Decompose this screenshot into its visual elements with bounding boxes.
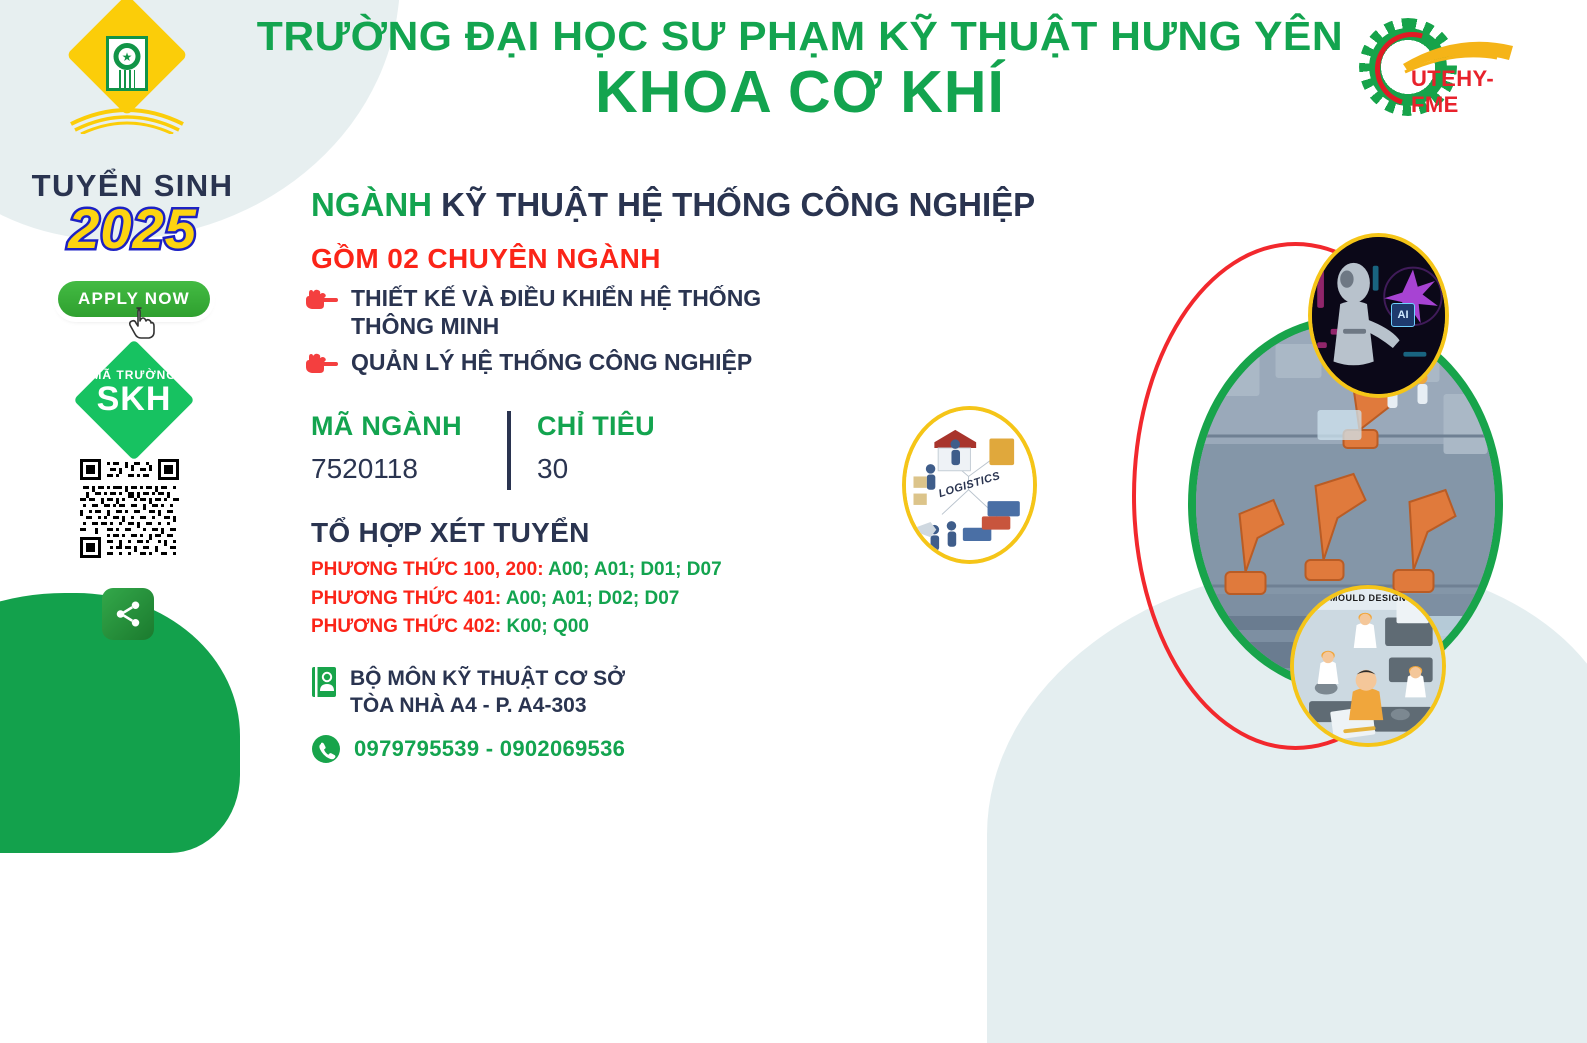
program-keyword: NGÀNH [311, 186, 432, 223]
contact-department: BỘ MÔN KỸ THUẬT CƠ SỞ [350, 666, 625, 693]
quota-value: 30 [537, 453, 733, 485]
major-code-label: MÃ NGÀNH [311, 411, 507, 442]
code-quota-block: MÃ NGÀNH 7520118 CHỈ TIÊU 30 [311, 411, 733, 490]
program-heading: NGÀNH KỸ THUẬT HỆ THỐNG CÔNG NGHIỆP [311, 186, 1035, 224]
combos-title: TỔ HỢP XÉT TUYỂN [311, 517, 590, 549]
university-logo: ★ [63, 6, 191, 134]
majors-list: THIẾT KẾ VÀ ĐIỀU KHIỂN HỆ THỐNG THÔNG MI… [305, 284, 825, 386]
share-glyph-icon [113, 599, 143, 629]
major-code-value: 7520118 [311, 453, 507, 485]
faculty-title: KHOA CƠ KHÍ [250, 62, 1350, 124]
mould-illustration [1294, 589, 1442, 743]
contact-address-row: BỘ MÔN KỸ THUẬT CƠ SỞ TÒA NHÀ A4 - P. A4… [311, 666, 625, 720]
methods-list: PHƯƠNG THỨC 100, 200: A00; A01; D01; D07… [311, 556, 722, 642]
banner-canvas: ★ TRƯỜNG ĐẠI HỌC SƯ PHẠM KỸ THUẬT HƯNG Y… [0, 0, 1587, 793]
quota-column: CHỈ TIÊU 30 [537, 411, 733, 485]
divider [507, 411, 511, 490]
page-title: TRƯỜNG ĐẠI HỌC SƯ PHẠM KỸ THUẬT HƯNG YÊN [228, 14, 1372, 58]
method-label: PHƯƠNG THỨC 100, 200: [311, 559, 544, 580]
contact-phone-row: 0979795539 - 0902069536 [311, 734, 625, 764]
program-name: KỸ THUẬT HỆ THỐNG CÔNG NGHIỆP [441, 186, 1035, 223]
contact-phones: 0979795539 - 0902069536 [354, 736, 625, 762]
ai-illustration [1312, 237, 1445, 394]
pointing-hand-icon [305, 288, 339, 314]
contact-card-icon [311, 666, 337, 698]
logistics-image: LOGISTICS [902, 406, 1037, 564]
method-row: PHƯƠNG THỨC 100, 200: A00; A01; D01; D07 [311, 556, 722, 585]
method-codes: K00; Q00 [501, 616, 589, 637]
method-codes: A00; A01; D02; D07 [501, 588, 679, 609]
ai-chip-label: AI [1391, 303, 1415, 327]
list-item: THIẾT KẾ VÀ ĐIỀU KHIỂN HỆ THỐNG THÔNG MI… [305, 284, 825, 340]
method-row: PHƯƠNG THỨC 402: K00; Q00 [311, 613, 722, 642]
qr-code[interactable] [80, 459, 179, 558]
method-label: PHƯƠNG THỨC 401: [311, 588, 501, 609]
quota-label: CHỈ TIÊU [537, 411, 733, 442]
school-code-value: SKH [74, 382, 194, 418]
phone-icon [311, 734, 341, 764]
utehy-fme-logo: UTEHY-FME [1355, 14, 1525, 122]
pointing-hand-icon [305, 352, 339, 378]
logo-star-icon: ★ [122, 51, 133, 63]
fme-logo-text: UTEHY-FME [1411, 66, 1525, 118]
mould-design-image: MOULD DESIGN [1290, 585, 1446, 747]
cursor-hand-icon [126, 303, 156, 339]
method-codes: A00; A01; D01; D07 [544, 559, 722, 580]
contact-location: TÒA NHÀ A4 - P. A4-303 [350, 693, 625, 720]
list-item: QUẢN LÝ HỆ THỐNG CÔNG NGHIỆP [305, 348, 825, 378]
share-icon[interactable] [102, 588, 154, 640]
list-item-label: QUẢN LÝ HỆ THỐNG CÔNG NGHIỆP [351, 348, 752, 376]
contact-text-group: BỘ MÔN KỸ THUẬT CƠ SỞ TÒA NHÀ A4 - P. A4… [350, 666, 625, 720]
mould-caption: MOULD DESIGN [1294, 593, 1442, 603]
majors-heading: GỒM 02 CHUYÊN NGÀNH [311, 243, 661, 275]
method-label: PHƯƠNG THỨC 402: [311, 616, 501, 637]
school-code-block: MÃ TRƯỜNG SKH [74, 368, 194, 418]
method-row: PHƯƠNG THỨC 401: A00; A01; D02; D07 [311, 585, 722, 614]
admission-year: 2025 [0, 196, 265, 261]
ai-robot-image: AI [1308, 233, 1449, 398]
logo-column-icon [119, 70, 135, 88]
contact-block: BỘ MÔN KỸ THUẬT CƠ SỞ TÒA NHÀ A4 - P. A4… [311, 666, 625, 764]
major-code-column: MÃ NGÀNH 7520118 [311, 411, 507, 485]
list-item-label: THIẾT KẾ VÀ ĐIỀU KHIỂN HỆ THỐNG THÔNG MI… [351, 284, 825, 340]
logo-waves-icon [69, 90, 185, 134]
